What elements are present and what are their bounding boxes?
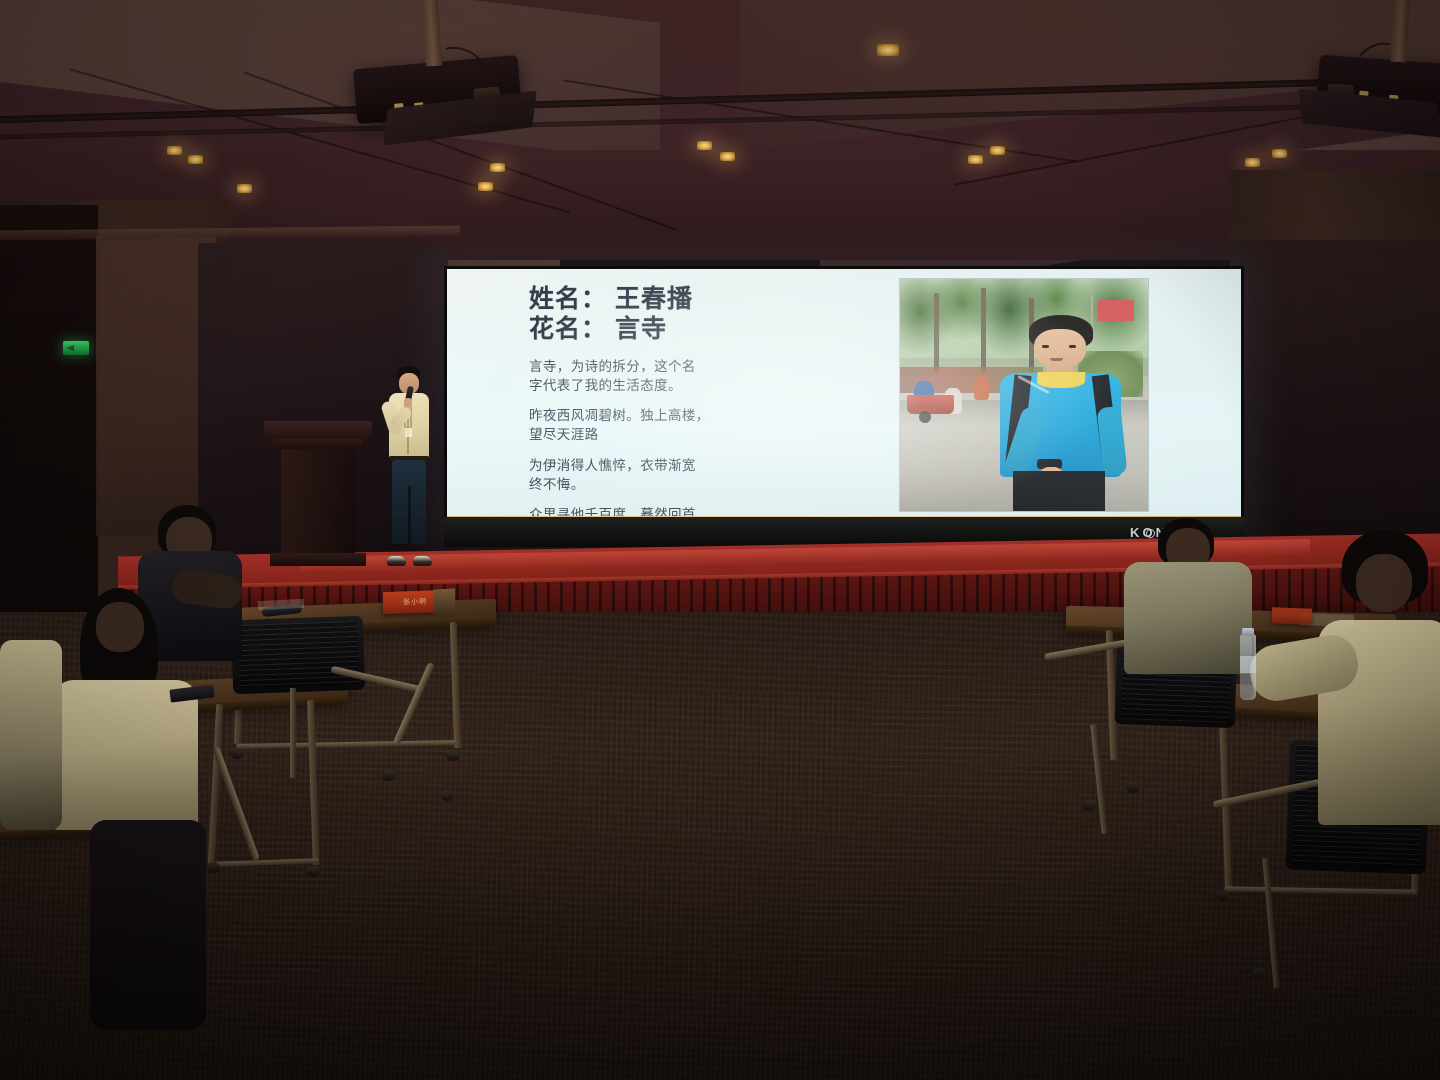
presentation-slide: 姓名： 王春播 花名： 言寺 言寺，为诗的拆分，这个名 字代表了我的生活态度。 … — [447, 269, 1241, 541]
ceiling-downlight — [697, 141, 712, 150]
attendee-mid-left-lower — [90, 820, 210, 1040]
chair-caster — [1126, 782, 1140, 793]
photo-person-pants — [1013, 471, 1105, 511]
table-caster — [230, 748, 244, 759]
slide-title: 姓名： 王春播 花名： 言寺 — [529, 285, 890, 344]
photo-person-collar — [1036, 372, 1085, 388]
carpet-tile — [800, 842, 1110, 1002]
chair-caster — [1082, 800, 1096, 811]
ceiling-downlight — [968, 155, 983, 164]
ceiling-downlight — [990, 146, 1005, 155]
attendee-head — [1356, 554, 1412, 612]
ceiling-downlight — [237, 184, 252, 193]
attendee-arm — [1246, 631, 1362, 705]
carpet-tile — [870, 662, 1120, 797]
chair-caster — [1252, 968, 1266, 979]
presenter — [383, 366, 435, 566]
ceiling-downlight — [1272, 149, 1287, 158]
chair-left-row1[interactable] — [231, 616, 366, 695]
attendee-front-right — [1124, 518, 1258, 668]
presenter-leg-seam — [408, 486, 411, 544]
slide-portrait-photo — [900, 279, 1148, 511]
chair-caster — [382, 770, 396, 781]
emergency-exit-sign — [63, 341, 89, 355]
lectern-base — [270, 553, 366, 566]
photo-person-face — [1034, 329, 1086, 369]
ceiling-downlight — [188, 155, 203, 164]
photo-person — [981, 311, 1140, 511]
lectern — [264, 421, 372, 566]
ceiling-downlight — [490, 163, 505, 172]
attendee-mid-left — [52, 588, 202, 828]
ceiling-downlight — [167, 146, 182, 155]
ceiling-panel-left — [0, 0, 660, 163]
attendee-torso — [1124, 562, 1252, 674]
table-caster — [446, 750, 460, 761]
ceiling-spotlight — [877, 44, 899, 56]
slide-text-column: 姓名： 王春播 花名： 言寺 言寺，为诗的拆分，这个名 字代表了我的生活态度。 … — [447, 269, 900, 541]
presenter-hand — [404, 398, 412, 407]
table-caster — [306, 866, 320, 877]
slide-paragraph-3: 为伊消得人憔悴，衣带渐宽 终不悔。 — [529, 456, 890, 494]
water-bottle-label — [1240, 656, 1256, 673]
ceiling-downlight — [1245, 158, 1260, 167]
attendee-head — [96, 602, 144, 652]
presenter-badge — [405, 428, 412, 437]
presenter-shoe — [387, 556, 406, 566]
chair-post — [290, 688, 296, 778]
table-caster — [1216, 890, 1230, 901]
slide-photo-column — [900, 269, 1241, 541]
attendee-torso — [0, 640, 62, 830]
photo-person-eye — [1069, 345, 1076, 348]
ceiling-downlight — [720, 152, 735, 161]
name-placard-holder — [433, 588, 455, 615]
chair-mesh-back — [237, 621, 359, 689]
carpet-tile — [580, 692, 840, 832]
ceiling-downlight — [478, 182, 493, 191]
attendee-near-right-arm — [1250, 640, 1360, 710]
photo-person-eye — [1042, 345, 1049, 348]
chair-caster — [440, 790, 454, 801]
lectern-body — [281, 449, 355, 553]
photo-tree-trunk — [934, 293, 939, 372]
stage-backdrop-right — [1230, 240, 1440, 570]
lectern-neck — [273, 439, 363, 449]
photo-person-arm — [1097, 406, 1128, 476]
slide-paragraph-2: 昨夜西风凋碧树。独上高楼， 望尽天涯路 — [529, 406, 890, 444]
carpet-tile — [460, 862, 760, 1022]
slide-paragraph-1: 言寺，为诗的拆分，这个名 字代表了我的生活态度。 — [529, 357, 890, 395]
water-bottle-cap — [1242, 628, 1254, 636]
photo-wheelbarrow — [907, 395, 954, 414]
conference-room-scene: 姓名： 王春播 花名： 言寺 言寺，为诗的拆分，这个名 字代表了我的生活态度。 … — [0, 0, 1440, 1080]
lectern-top — [264, 421, 372, 439]
name-placard-right — [1272, 607, 1312, 624]
slide-body: 言寺，为诗的拆分，这个名 字代表了我的生活态度。 昨夜西风凋碧树。独上高楼， 望… — [529, 357, 890, 541]
projection-screen: 姓名： 王春播 花名： 言寺 言寺，为诗的拆分，这个名 字代表了我的生活态度。 … — [444, 266, 1244, 544]
attendee-torso — [52, 680, 198, 830]
photo-person-mouth — [1050, 358, 1063, 361]
presenter-shoe — [413, 556, 432, 566]
screen-surface: 姓名： 王春播 花名： 言寺 言寺，为诗的拆分，这个名 字代表了我的生活态度。 … — [447, 269, 1241, 541]
attendee-legs — [90, 820, 206, 1030]
attendee-far-left — [0, 640, 70, 840]
